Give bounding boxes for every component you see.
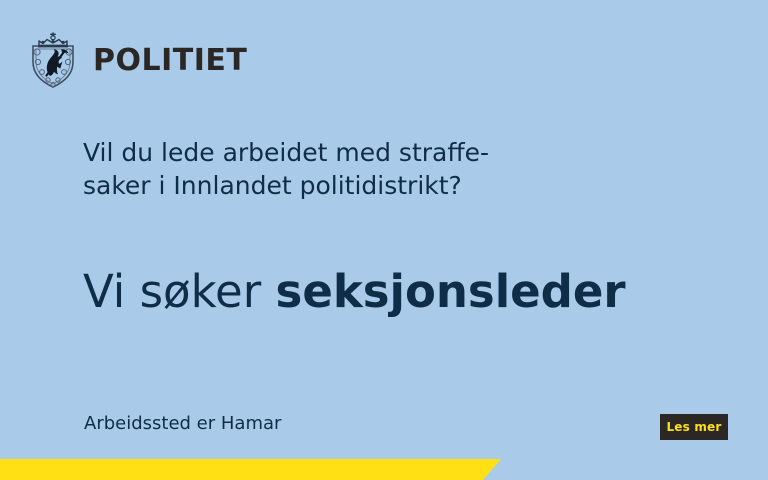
headline-question: Vil du lede arbeidet med straffe- saker … [83, 136, 603, 202]
headline-statement: Vi søker seksjonsleder [83, 264, 626, 320]
brand-wordmark: POLITIET [93, 46, 247, 76]
headline-question-line-2: saker i Innlandet politidistrikt? [83, 169, 603, 202]
bottom-accent-stripe [0, 459, 501, 480]
statement-lead-text: Vi søker [83, 265, 276, 318]
work-location-text: Arbeidssted er Hamar [84, 412, 281, 436]
headline-question-line-1: Vil du lede arbeidet med straffe- [83, 136, 603, 169]
job-ad-banner: POLITIET Vil du lede arbeidet med straff… [0, 0, 768, 480]
statement-role-text: seksjonsleder [276, 265, 626, 318]
brand-lockup: POLITIET [26, 32, 247, 90]
read-more-button-label: Les mer [666, 421, 721, 433]
norwegian-coat-of-arms-icon [26, 32, 80, 90]
read-more-button[interactable]: Les mer [660, 414, 728, 440]
